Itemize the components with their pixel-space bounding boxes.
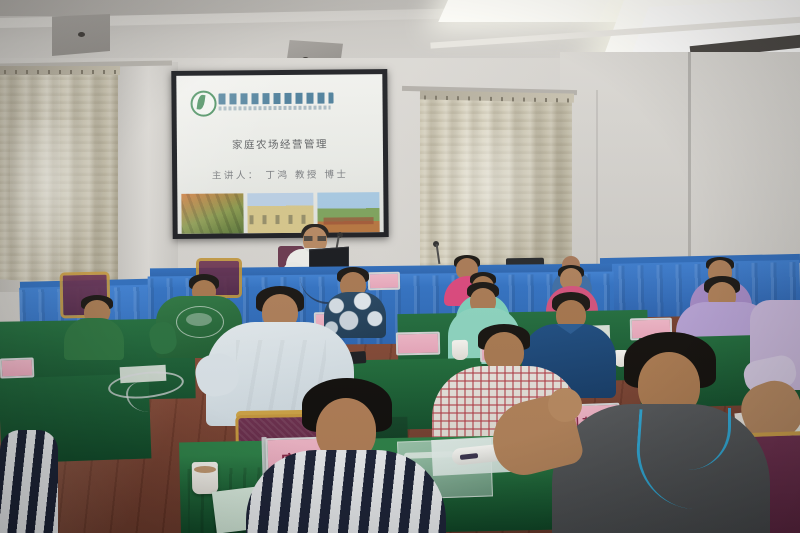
speaker-glasses-icon [304,236,326,241]
projection-screen-glare [176,74,383,234]
window-glow-left [10,120,106,270]
ceiling-speaker-icon-left [78,32,85,37]
person-torso-green [64,318,124,360]
shirt-logo-emblem [186,313,212,326]
photo-scene: 家庭农场经营管理 主讲人： 丁鸿 教授 博士 [0,0,800,533]
curtain-hooks-left [4,70,116,74]
window-glow-right [430,130,550,270]
name-card-small [368,272,400,291]
person-torso-striped-shirt [246,450,446,533]
name-card-small [0,357,34,378]
paper-cup-tea [194,466,216,473]
person-torso-left-edge-striped [0,430,58,533]
person-hand [548,388,582,422]
